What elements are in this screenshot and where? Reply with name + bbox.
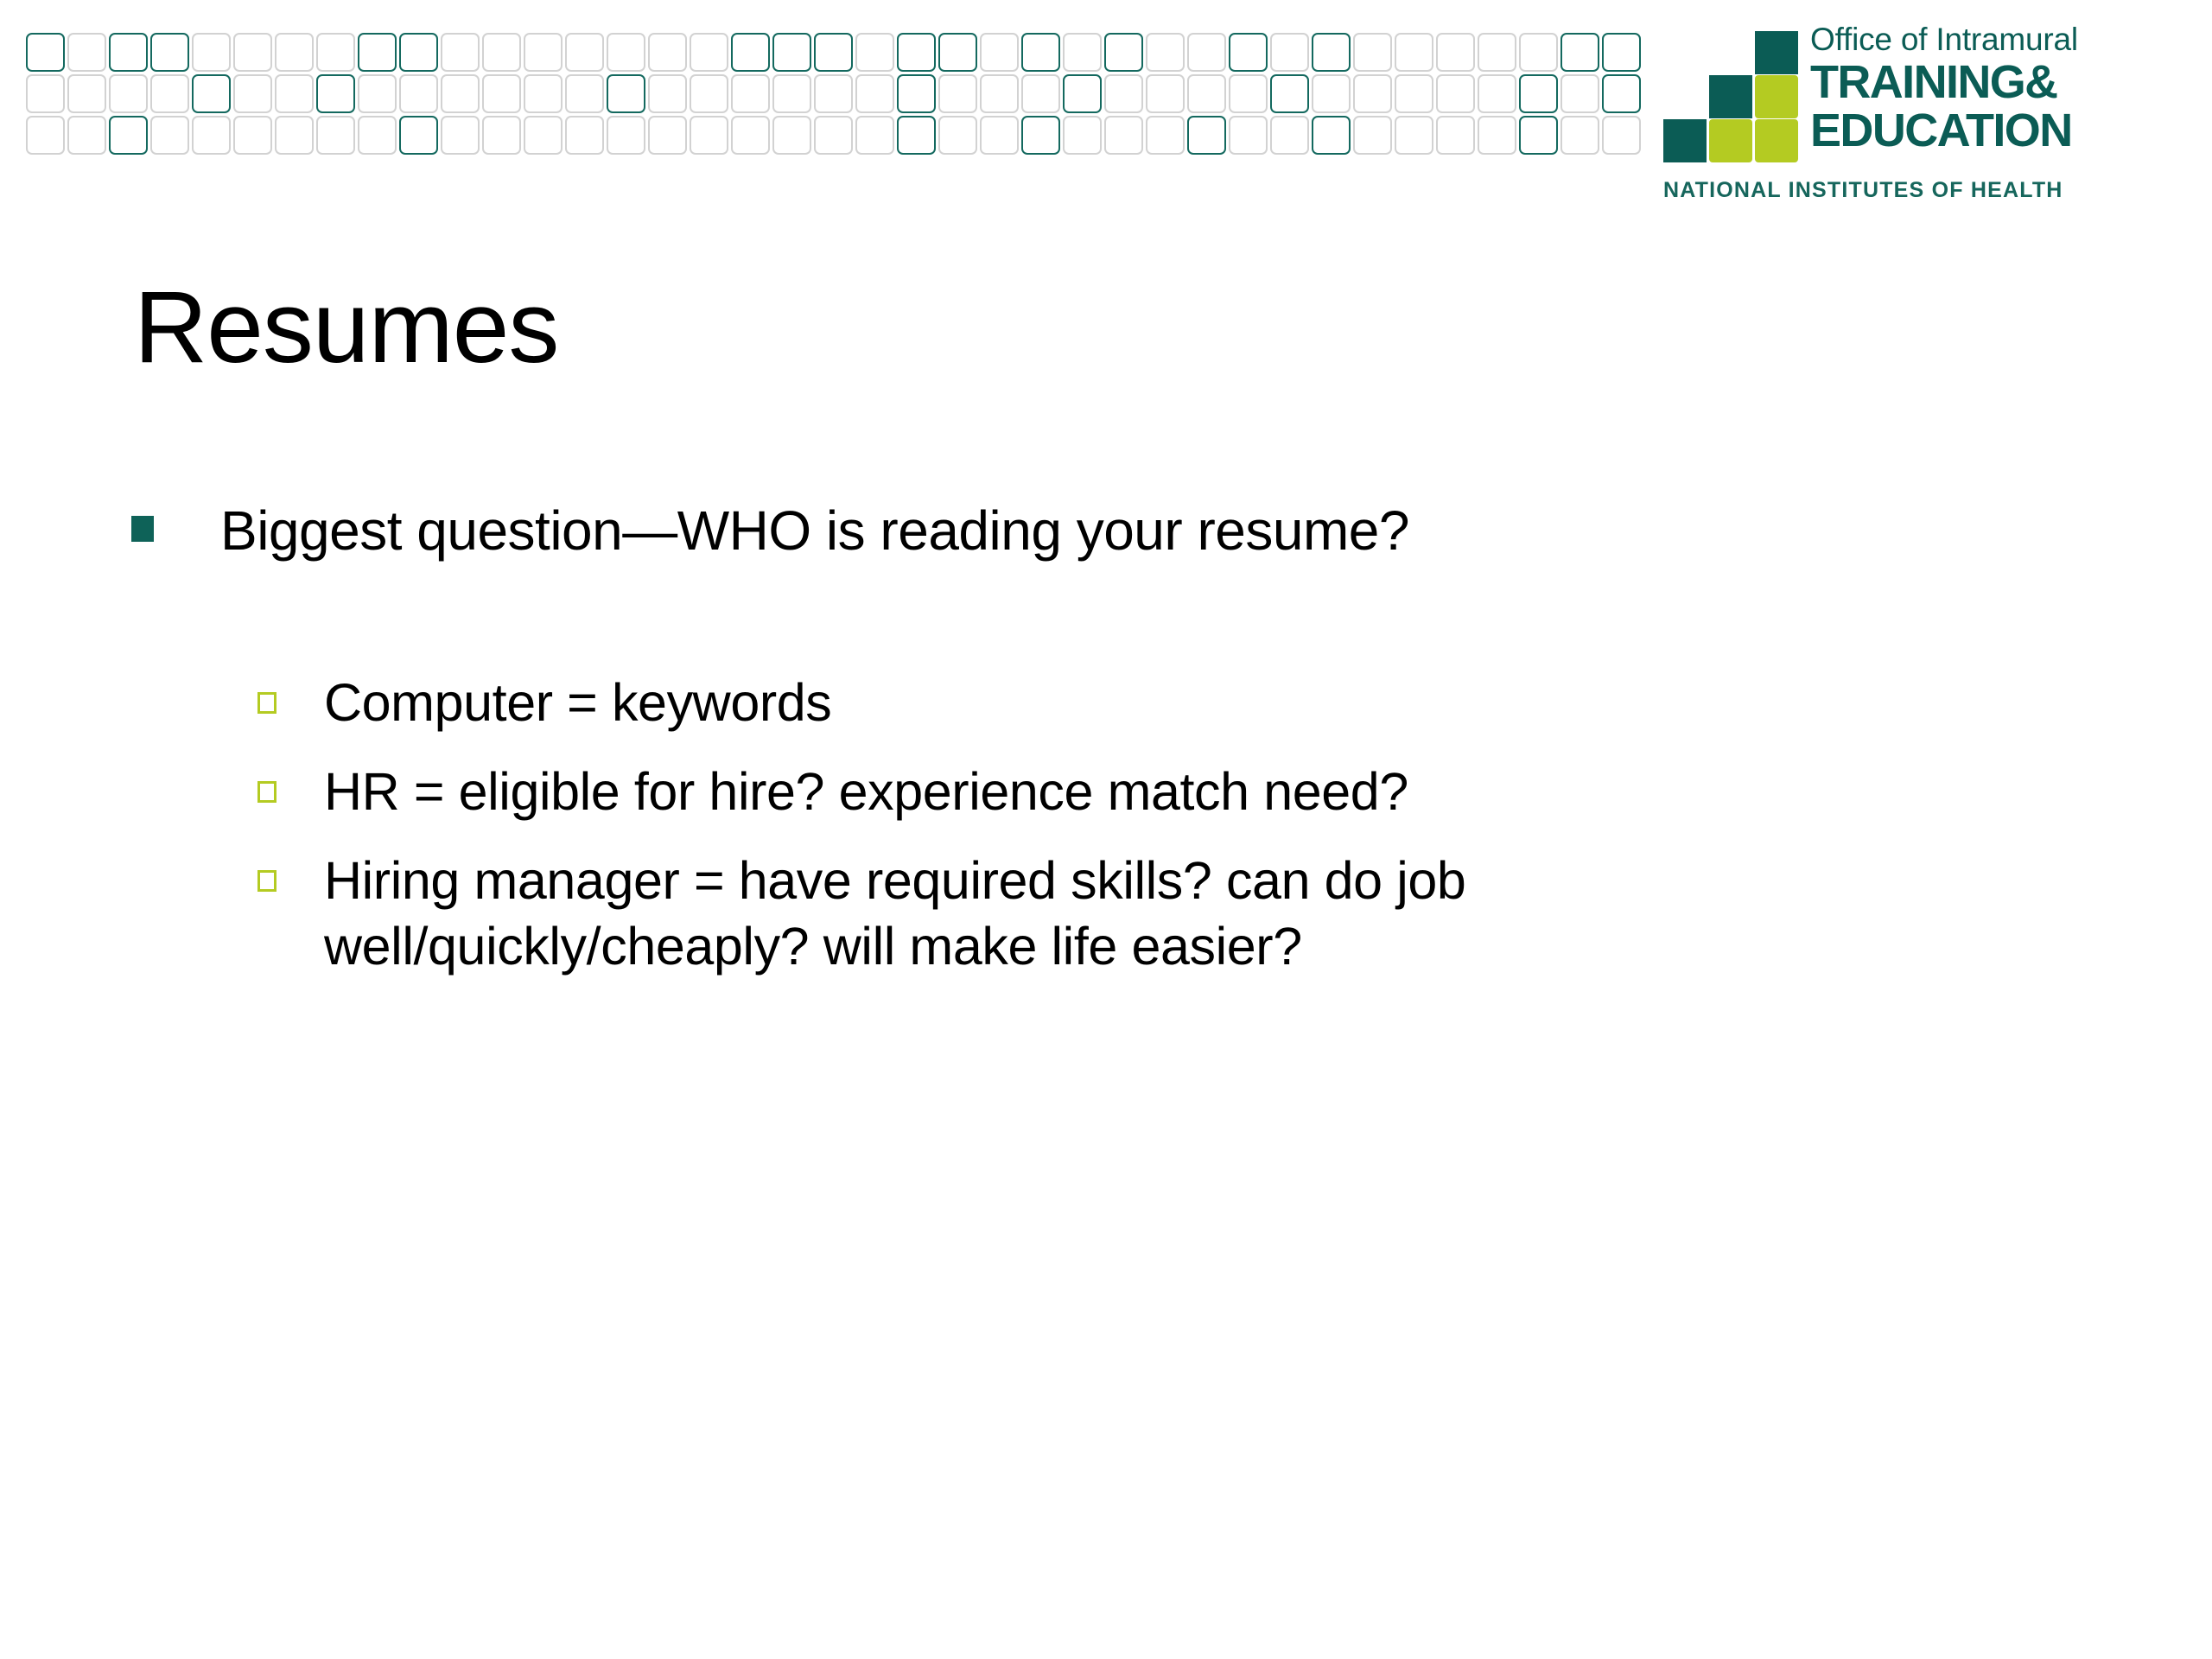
header-tile-teal [1270,74,1309,113]
header-tile-gray [192,33,231,72]
header-tile-gray [1353,116,1392,155]
header-tile-teal [938,33,977,72]
header-tile-teal [1021,33,1060,72]
header-tile-gray [524,116,563,155]
header-tile-gray [1104,74,1143,113]
header-tile-gray [814,74,853,113]
header-tile-teal [1519,74,1558,113]
header-tile-gray [67,74,106,113]
header-tile-gray [1270,116,1309,155]
page-title: Resumes [134,275,558,382]
header-tile-gray [1063,33,1102,72]
header-tile-teal [109,33,148,72]
bullet-level2-hr: HR = eligible for hire? experience match… [130,759,2117,824]
logo-line-education: EDUCATION [1810,107,2147,154]
header-tile-gray [731,116,770,155]
header-decorative-band: Office of Intramural TRAINING& EDUCATION… [0,0,2212,216]
header-tile-gray [109,74,148,113]
header-tile-teal [1229,33,1268,72]
logo-line-office-of-intramural: Office of Intramural [1810,21,2147,59]
header-tile-gray [855,33,894,72]
header-tile-gray [1312,74,1351,113]
header-tile-gray [1229,74,1268,113]
header-tile-gray [1270,33,1309,72]
header-tile-gray [1146,74,1185,113]
header-tile-gray [275,33,314,72]
header-tile-gray [441,116,480,155]
header-tile-gray [275,116,314,155]
logo-square-teal-mid [1709,75,1752,118]
header-tile-gray [690,74,728,113]
header-tile-gray [690,33,728,72]
header-tile-gray [233,74,272,113]
filled-square-bullet-icon [131,516,154,542]
header-tile-teal [897,74,936,113]
header-tile-gray [938,116,977,155]
header-tile-gray [855,74,894,113]
header-tile-gray [482,74,521,113]
header-tile-gray [565,74,604,113]
header-tile-teal [607,74,645,113]
header-tile-gray [233,33,272,72]
header-tile-teal [772,33,811,72]
hollow-square-bullet-icon [257,692,276,714]
header-tile-gray [1436,116,1475,155]
header-tile-teal [399,116,438,155]
bullet-level2-computer: Computer = keywords [130,670,2117,735]
header-tile-gray [648,33,687,72]
header-tile-teal [1063,74,1102,113]
header-tile-gray [399,74,438,113]
header-tile-gray [1395,33,1433,72]
header-tile-teal [109,116,148,155]
header-tile-gray [980,33,1019,72]
header-tile-gray [731,74,770,113]
bullet-level2-text: Computer = keywords [324,673,831,732]
header-tile-teal [358,33,397,72]
header-tile-gray [1478,33,1516,72]
header-tile-gray [980,74,1019,113]
header-tile-gray [690,116,728,155]
header-tile-gray [607,33,645,72]
header-tile-teal [1519,116,1558,155]
logo-square-lime-bottom-left [1709,119,1752,162]
logo-square-teal-bottom [1663,119,1707,162]
header-tile-gray [814,116,853,155]
logo-line-training: TRAINING& [1810,59,2147,105]
bullet-level2-text: HR = eligible for hire? experience match… [324,762,1408,821]
header-tile-gray [1229,116,1268,155]
header-tile-gray [1395,116,1433,155]
header-tile-gray [150,116,189,155]
logo-square-teal-top [1755,31,1798,74]
header-tile-gray [441,74,480,113]
header-tile-gray [67,116,106,155]
header-tile-gray [938,74,977,113]
header-tile-gray [1187,33,1226,72]
header-tile-gray [1478,116,1516,155]
header-tile-gray [1519,33,1558,72]
header-tile-gray [607,116,645,155]
logo-line-national-institutes-of-health: NATIONAL INSTITUTES OF HEALTH [1663,178,2063,203]
header-tile-gray [1560,74,1599,113]
header-tile-gray [358,116,397,155]
header-tile-teal [1560,33,1599,72]
header-tile-gray [358,74,397,113]
header-tile-gray [1187,74,1226,113]
header-tile-teal [897,33,936,72]
header-tile-teal [1602,74,1641,113]
header-tile-gray [1021,74,1060,113]
header-tile-gray [482,116,521,155]
header-tile-gray [1063,116,1102,155]
logo-square-lime-bottom-right [1755,119,1798,162]
header-tile-gray [233,116,272,155]
header-tile-teal [1187,116,1226,155]
header-tile-teal [1104,33,1143,72]
header-tile-gray [1146,116,1185,155]
header-tile-teal [150,33,189,72]
header-tile-teal [1312,116,1351,155]
header-tile-gray [772,74,811,113]
header-tile-gray [1104,116,1143,155]
logo-staircase-mark [1663,31,1802,162]
header-tile-teal [26,33,65,72]
header-tile-gray [67,33,106,72]
header-tile-gray [1478,74,1516,113]
header-tile-gray [1436,33,1475,72]
bullet-level2-text-line2: well/quickly/cheaply? will make life eas… [324,913,2117,979]
header-tile-teal [399,33,438,72]
nih-oite-logo: Office of Intramural TRAINING& EDUCATION… [1663,16,2147,210]
hollow-square-bullet-icon [257,781,276,803]
header-tile-gray [772,116,811,155]
header-tile-teal [1021,116,1060,155]
bullet-level1-text: Biggest question—WHO is reading your res… [220,499,1409,562]
header-tile-gray [1353,74,1392,113]
bullet-level1: Biggest question—WHO is reading your res… [130,497,2117,564]
header-tile-teal [1312,33,1351,72]
header-tile-gray [855,116,894,155]
header-tile-gray [1436,74,1475,113]
bullet-level2-text-line1: Hiring manager = have required skills? c… [324,851,1465,910]
header-tile-gray [565,33,604,72]
header-tile-gray [26,74,65,113]
header-tile-gray [648,74,687,113]
header-tile-gray [26,116,65,155]
header-tile-gray [565,116,604,155]
header-tile-gray [316,116,355,155]
header-tile-gray [1395,74,1433,113]
logo-wordmark: Office of Intramural TRAINING& EDUCATION [1810,21,2147,154]
header-tile-gray [1353,33,1392,72]
header-tile-gray [524,33,563,72]
header-tile-gray [1560,116,1599,155]
hollow-square-bullet-icon [257,870,276,892]
header-tile-teal [1602,33,1641,72]
header-tile-gray [441,33,480,72]
header-tile-gray [150,74,189,113]
bullet-level2-hiring-manager: Hiring manager = have required skills? c… [130,848,2117,979]
header-tile-gray [524,74,563,113]
header-tile-gray [980,116,1019,155]
header-tile-teal [316,74,355,113]
header-tile-gray [316,33,355,72]
sub-bullet-list: Computer = keywords HR = eligible for hi… [130,670,2117,979]
header-tile-teal [814,33,853,72]
slide-content: Biggest question—WHO is reading your res… [130,497,2117,1002]
header-tile-teal [192,74,231,113]
header-tile-teal [897,116,936,155]
header-tile-gray [275,74,314,113]
header-tile-gray [648,116,687,155]
header-tile-gray [1602,116,1641,155]
header-tile-gray [482,33,521,72]
logo-square-lime-mid [1755,75,1798,118]
header-tile-gray [192,116,231,155]
header-tile-gray [1146,33,1185,72]
header-tile-teal [731,33,770,72]
